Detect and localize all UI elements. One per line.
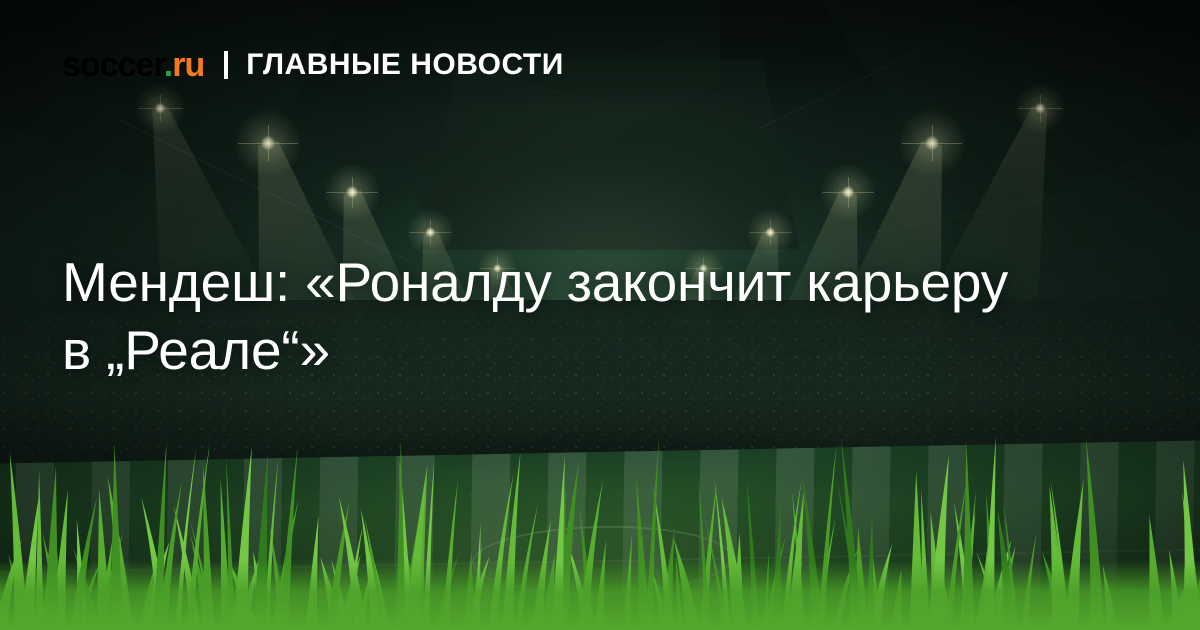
headline: Мендеш: «Роналду закончит карьеру в „Реа…	[62, 248, 1162, 384]
logo-dot: .	[164, 46, 172, 84]
header-separator-icon	[224, 51, 228, 79]
logo-tld: ru	[172, 46, 204, 84]
site-logo[interactable]: soccer.ru	[62, 48, 204, 82]
foreground-grass	[0, 415, 1200, 630]
header-title: ГЛАВНЫЕ НОВОСТИ	[246, 50, 564, 80]
header: soccer.ru ГЛАВНЫЕ НОВОСТИ	[62, 48, 564, 82]
grass-base	[0, 560, 1200, 630]
share-card: soccer.ru ГЛАВНЫЕ НОВОСТИ Мендеш: «Ронал…	[0, 0, 1200, 630]
logo-word: soccer	[62, 46, 164, 84]
